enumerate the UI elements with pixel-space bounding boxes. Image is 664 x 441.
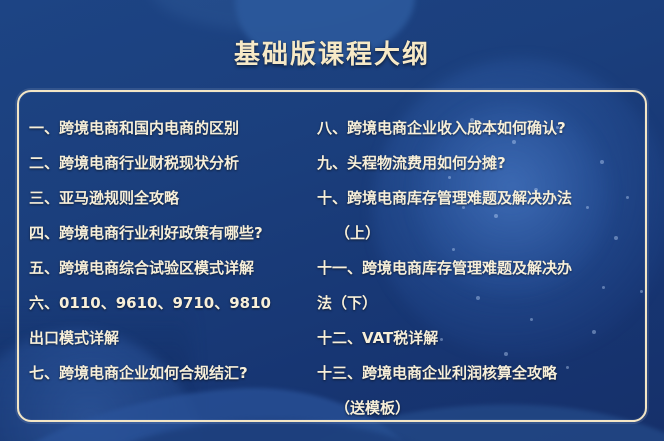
outline-item: （送模板）: [317, 391, 647, 426]
outline-item: 十、跨境电商库存管理难题及解决办法: [317, 181, 647, 216]
outline-item: 十三、跨境电商企业利润核算全攻略: [317, 356, 647, 391]
outline-item: 法（下）: [317, 286, 647, 321]
outline-item: 六、0110、9610、9710、9810: [29, 286, 317, 321]
outline-columns: 一、跨境电商和国内电商的区别二、跨境电商行业财税现状分析三、亚马逊规则全攻略四、…: [17, 90, 647, 422]
outline-item: 九、头程物流费用如何分摊?: [317, 146, 647, 181]
course-outline-slide: 基础版课程大纲 一、跨境电商和国内电商的区别二、跨境电商行业财税现状分析三、亚马…: [0, 0, 664, 441]
outline-item: 十二、VAT税详解: [317, 321, 647, 356]
outline-column-left: 一、跨境电商和国内电商的区别二、跨境电商行业财税现状分析三、亚马逊规则全攻略四、…: [17, 111, 317, 422]
outline-item: 五、跨境电商综合试验区模式详解: [29, 251, 317, 286]
background-blob-upper-secondary: [150, 0, 410, 30]
outline-item: 出口模式详解: [29, 321, 317, 356]
outline-item: 二、跨境电商行业财税现状分析: [29, 146, 317, 181]
outline-column-right: 八、跨境电商企业收入成本如何确认?九、头程物流费用如何分摊?十、跨境电商库存管理…: [317, 111, 647, 422]
outline-item: 八、跨境电商企业收入成本如何确认?: [317, 111, 647, 146]
outline-item: 七、跨境电商企业如何合规结汇?: [29, 356, 317, 391]
outline-item: 一、跨境电商和国内电商的区别: [29, 111, 317, 146]
outline-item: 十一、跨境电商库存管理难题及解决办: [317, 251, 647, 286]
outline-item: 四、跨境电商行业利好政策有哪些?: [29, 216, 317, 251]
page-title: 基础版课程大纲: [0, 34, 664, 71]
outline-item: 三、亚马逊规则全攻略: [29, 181, 317, 216]
outline-item: （上）: [317, 216, 647, 251]
